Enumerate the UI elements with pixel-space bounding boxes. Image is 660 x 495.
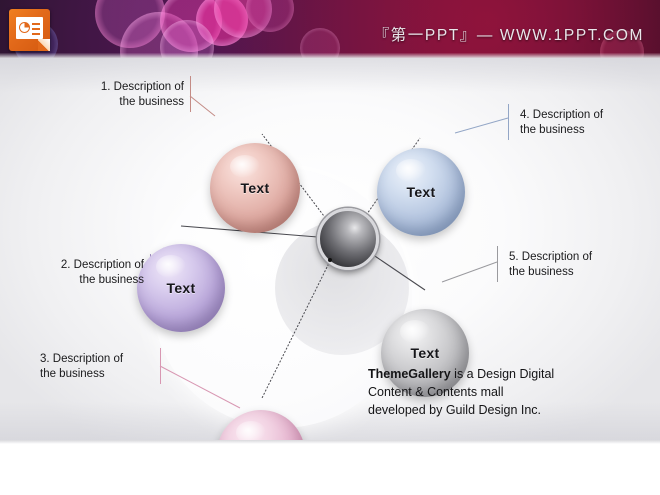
node-sphere-4[interactable]: Text — [377, 148, 465, 236]
callout-line-2: the business — [20, 95, 184, 110]
hub-dot — [328, 258, 332, 262]
bokeh-circle — [196, 0, 248, 46]
theme-brand: ThemeGallery — [368, 367, 451, 381]
slide-content: Text Text Text Text Text 1. Description — [0, 58, 660, 440]
theme-gallery-text: ThemeGallery is a Design Digital Content… — [368, 365, 554, 419]
node-sphere-1[interactable]: Text — [210, 143, 300, 233]
callout-line-1: 5. Description of — [509, 250, 660, 265]
theme-line-1: ThemeGallery is a Design Digital — [368, 365, 554, 383]
callout-bracket-4 — [508, 104, 509, 140]
callout-4: 4. Description of the business — [520, 108, 660, 138]
bokeh-circle — [160, 0, 222, 52]
callout-line-2: the business — [40, 367, 210, 382]
node-sphere-2[interactable]: Text — [137, 244, 225, 332]
bokeh-circle — [246, 0, 294, 32]
sphere-highlight — [400, 320, 430, 343]
callout-line-1: 4. Description of — [520, 108, 660, 123]
sphere-highlight — [236, 421, 266, 440]
node-label: Text — [167, 280, 196, 296]
callout-1: 1. Description of the business — [20, 80, 184, 110]
callout-line-2: the business — [0, 273, 144, 288]
divider — [0, 440, 660, 444]
powerpoint-icon — [9, 9, 50, 51]
banner-title: 『第一PPT』— WWW.1PPT.COM — [374, 23, 644, 45]
callout-5: 5. Description of the business — [509, 250, 660, 280]
callout-3: 3. Description of the business — [40, 352, 210, 382]
callout-bracket-5 — [497, 246, 498, 282]
callout-line-1: 3. Description of — [40, 352, 210, 367]
callout-line-2: the business — [509, 265, 660, 280]
sphere-highlight — [156, 255, 186, 278]
callout-bracket-1 — [190, 76, 191, 112]
sphere-highlight — [230, 155, 261, 178]
bokeh-circle — [214, 0, 272, 38]
theme-line-3: developed by Guild Design Inc. — [368, 401, 554, 419]
theme-line-2: Content & Contents mall — [368, 383, 554, 401]
callout-2: 2. Description of the business — [0, 258, 144, 288]
sphere-highlight — [396, 159, 426, 182]
center-hub[interactable] — [317, 208, 379, 270]
top-banner: 『第一PPT』— WWW.1PPT.COM — [0, 0, 660, 58]
node-label: Text — [241, 180, 270, 196]
bokeh-circle — [120, 12, 198, 58]
node-label: Text — [407, 184, 436, 200]
bokeh-circle — [95, 0, 165, 48]
theme-line-1-rest: is a Design Digital — [451, 367, 555, 381]
slide-canvas: 『第一PPT』— WWW.1PPT.COM — [0, 0, 660, 495]
callout-line-1: 2. Description of — [0, 258, 144, 273]
callout-line-1: 1. Description of — [20, 80, 184, 95]
callout-line-2: the business — [520, 123, 660, 138]
bottom-banner: 第一PPT HTTP://WWW.1PPT.COM — [0, 440, 660, 495]
node-label: Text — [411, 345, 440, 361]
